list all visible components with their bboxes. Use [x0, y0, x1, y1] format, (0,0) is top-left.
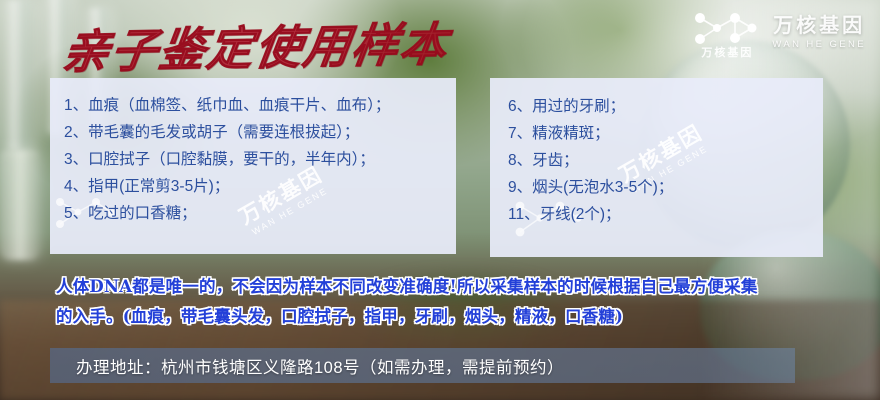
list-item: 7、精液精斑；	[508, 120, 823, 147]
list-item: 9、烟头(无泡水3-5个)；	[508, 174, 823, 201]
glass-vial	[2, 0, 36, 150]
list-item: 5、吃过的口香糖；	[64, 200, 456, 227]
page-title: 亲子鉴定使用样本	[59, 8, 453, 82]
note-line-1: 人体DNA都是唯一的，不会因为样本不同改变准确度!所以采集样本的时候根据自己最方…	[56, 272, 856, 302]
list-item: 3、口腔拭子（口腔黏膜，要干的，半年内）；	[64, 146, 456, 173]
poster-canvas: 万核基因 万核基因 WAN HE GENE 亲子鉴定使用样本 万核基因 WAN …	[0, 0, 880, 400]
brand-logo: 万核基因 万核基因 WAN HE GENE	[690, 6, 866, 60]
list-item: 6、用过的牙刷；	[508, 93, 823, 120]
list-item: 11、牙线(2个)；	[508, 201, 823, 228]
note-paragraph: 人体DNA都是唯一的，不会因为样本不同改变准确度!所以采集样本的时候根据自己最方…	[56, 272, 856, 332]
sample-list-left: 1、血痕（血棉签、纸巾血、血痕干片、血布）； 2、带毛囊的毛发或胡子（需要连根拔…	[50, 78, 456, 227]
glass-vial	[0, 150, 40, 260]
brand-name-en: WAN HE GENE	[772, 40, 866, 50]
list-item: 8、牙齿；	[508, 147, 823, 174]
list-item: 2、带毛囊的毛发或胡子（需要连根拔起）；	[64, 119, 456, 146]
sample-list-right: 6、用过的牙刷； 7、精液精斑； 8、牙齿； 9、烟头(无泡水3-5个)； 11…	[490, 78, 823, 228]
note-line-2: 的入手。(血痕，带毛囊头发，口腔拭子，指甲，牙刷，烟头，精液，口香糖)	[56, 302, 856, 332]
list-item: 4、指甲(正常剪3-5片)；	[64, 173, 456, 200]
address-text: 办理地址：杭州市钱塘区义隆路108号（如需办理，需提前预约）	[50, 354, 564, 378]
sample-list-panel-left: 万核基因 WAN HE GENE 万核基因 WAN HE GENE 1、血痕（血…	[50, 78, 456, 254]
list-item: 1、血痕（血棉签、纸巾血、血痕干片、血布）；	[64, 92, 456, 119]
address-bar: 办理地址：杭州市钱塘区义隆路108号（如需办理，需提前预约）	[50, 348, 795, 383]
sample-list-panel-right: 万核基因 WAN HE GENE 万核基因 WAN HE GENE 6、用过的牙…	[490, 78, 823, 257]
brand-name-cn: 万核基因	[773, 16, 865, 36]
logo-icon-caption: 万核基因	[701, 44, 753, 60]
